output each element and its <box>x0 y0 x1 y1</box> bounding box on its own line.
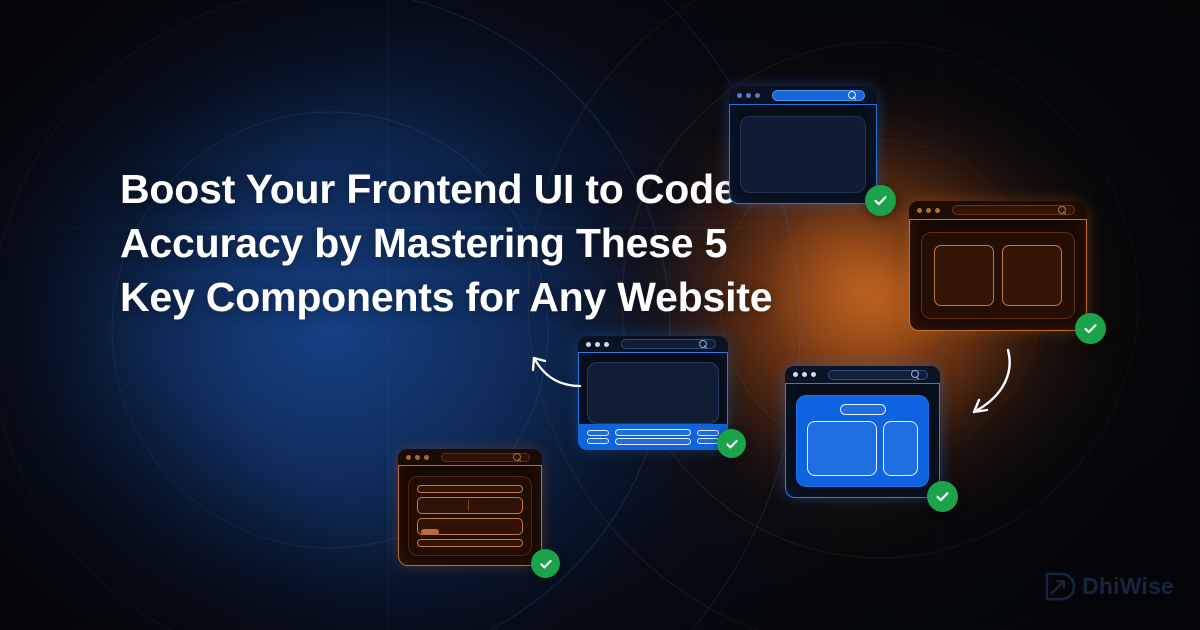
window-traffic-dots <box>793 372 816 377</box>
content-panel <box>587 362 719 424</box>
address-bar[interactable] <box>621 339 716 349</box>
list-rows-window <box>398 449 542 566</box>
dhiwise-logo-text: DhiWise <box>1082 575 1174 598</box>
toolbar-left-buttons[interactable] <box>587 430 609 445</box>
check-circle-icon <box>1075 313 1106 344</box>
toolbar-button[interactable] <box>587 438 609 444</box>
window-dot <box>926 208 931 213</box>
window-dot <box>604 342 609 347</box>
hero-panel-secondary <box>883 421 918 476</box>
address-bar[interactable] <box>772 90 865 101</box>
magnifier-icon <box>848 91 857 100</box>
list-row <box>417 485 523 493</box>
window-dot <box>424 455 429 460</box>
window-title-bar <box>578 336 728 353</box>
search-bar-window <box>729 86 877 204</box>
check-circle-icon <box>717 429 746 458</box>
window-title-bar <box>785 366 940 384</box>
dhiwise-logo: DhiWise <box>1044 571 1174 602</box>
list-row <box>417 497 523 514</box>
toolbar-field[interactable] <box>615 429 691 436</box>
list-row <box>417 539 523 547</box>
window-dot <box>935 208 940 213</box>
window-title-bar <box>729 86 877 105</box>
arrow-up-left <box>520 344 586 392</box>
magnifier-icon <box>1058 206 1067 215</box>
magnifier-icon <box>513 453 522 462</box>
footer-toolbar-window <box>578 336 728 450</box>
window-dot <box>406 455 411 460</box>
dhiwise-bracket-d-icon <box>1044 571 1075 602</box>
window-dot <box>737 93 742 98</box>
row-divider <box>468 500 469 511</box>
address-bar[interactable] <box>952 205 1075 215</box>
window-dot <box>755 93 760 98</box>
window-content <box>909 220 1087 331</box>
address-bar[interactable] <box>828 370 928 380</box>
card-right <box>1002 245 1062 306</box>
toolbar-button[interactable] <box>587 430 609 436</box>
window-traffic-dots <box>586 342 609 347</box>
toolbar-field[interactable] <box>615 438 691 445</box>
content-panel <box>796 395 929 487</box>
check-circle-icon <box>927 481 958 512</box>
window-dot <box>586 342 591 347</box>
window-content <box>785 384 940 498</box>
window-dot <box>746 93 751 98</box>
window-dot <box>802 372 807 377</box>
toolbar-right-buttons[interactable] <box>697 430 719 445</box>
check-circle-icon <box>865 185 896 216</box>
arrow-down-left <box>958 344 1020 422</box>
hero-panel-row <box>807 421 918 476</box>
toolbar-button[interactable] <box>697 430 719 436</box>
hero-layout-window <box>785 366 940 498</box>
check-circle-icon <box>531 549 560 578</box>
card-left <box>934 245 994 306</box>
window-title-bar <box>398 449 542 466</box>
window-dot <box>811 372 816 377</box>
toolbar-button[interactable] <box>697 438 719 444</box>
content-panel <box>740 116 866 193</box>
window-dot <box>415 455 420 460</box>
window-traffic-dots <box>917 208 940 213</box>
address-bar[interactable] <box>441 453 530 462</box>
two-column-card-window <box>909 201 1087 331</box>
window-traffic-dots <box>406 455 429 460</box>
banner-canvas: Boost Your Frontend UI to Code Accuracy … <box>0 0 1200 630</box>
magnifier-icon <box>911 370 920 379</box>
window-dot <box>793 372 798 377</box>
window-title-bar <box>909 201 1087 220</box>
toolbar-center-fields[interactable] <box>615 429 691 446</box>
window-traffic-dots <box>737 93 760 98</box>
footer-toolbar <box>578 424 728 450</box>
magnifier-icon <box>699 340 708 349</box>
hero-pill <box>840 404 886 415</box>
headline-title: Boost Your Frontend UI to Code Accuracy … <box>120 162 780 324</box>
row-tag <box>421 529 439 535</box>
hero-panel-primary <box>807 421 877 476</box>
list-row <box>417 518 523 535</box>
window-dot <box>917 208 922 213</box>
content-panel <box>408 476 532 556</box>
window-dot <box>595 342 600 347</box>
window-content <box>398 466 542 566</box>
window-content <box>729 105 877 204</box>
content-panel <box>921 232 1075 319</box>
